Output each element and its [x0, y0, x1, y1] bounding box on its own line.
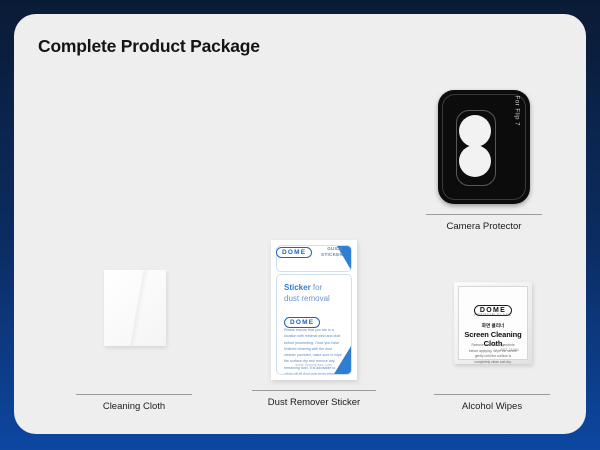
alcohol-wipe-seal: DOME PREMIUM GLASS 화면 클리너 Screen Cleanin… — [458, 286, 528, 360]
product-camera-protector[interactable]: For Flip 7 Camera Protector — [426, 90, 542, 246]
alcohol-wipe-title-kr: 화면 클리너 — [459, 323, 527, 329]
dome-logo: DOME — [276, 247, 312, 258]
product-cleaning-cloth[interactable]: Cleaning Cloth — [76, 270, 192, 422]
cleaning-cloth-fold — [104, 270, 166, 346]
product-alcohol-wipes[interactable]: DOME PREMIUM GLASS 화면 클리너 Screen Cleanin… — [434, 282, 550, 422]
page-title: Complete Product Package — [38, 36, 260, 57]
screenshot-stage: Complete Product Package For Flip 7 Came… — [0, 0, 600, 450]
label-divider — [426, 214, 542, 215]
alcohol-wipe-code: ART 01084 — [500, 348, 519, 352]
heading-light: for — [313, 283, 322, 292]
lens-hole-bottom — [459, 145, 491, 177]
alcohol-wipe-brand-sub: PREMIUM GLASS — [459, 313, 527, 317]
alcohol-wipe-description: Remove dust and fingerprints before appl… — [467, 343, 519, 365]
label-divider — [434, 394, 550, 395]
item-label-dust-remover-sticker: Dust Remover Sticker — [252, 397, 376, 408]
product-dust-remover-sticker[interactable]: DOME GUIDE STICKER Sticker for dust remo… — [252, 240, 376, 422]
guide-sticker-tag: GUIDE STICKER — [321, 246, 343, 258]
item-label-cleaning-cloth: Cleaning Cloth — [76, 401, 192, 412]
label-divider — [76, 394, 192, 395]
camera-protector-model-text: For Flip 7 — [513, 96, 519, 126]
product-package-card: Complete Product Package For Flip 7 Came… — [14, 14, 586, 434]
dust-sticker-heading: Sticker for dust removal — [284, 283, 330, 305]
item-label-camera-protector: Camera Protector — [426, 221, 542, 232]
cleaning-cloth-sheet — [104, 270, 166, 346]
dust-sticker-main-panel: Sticker for dust removal DOME Please ens… — [276, 274, 352, 375]
heading-strong: Sticker — [284, 283, 311, 292]
camera-protector-body: For Flip 7 — [438, 90, 530, 204]
camera-lens-cutout — [456, 110, 496, 186]
dust-sticker-sachet: DOME GUIDE STICKER Sticker for dust remo… — [271, 240, 357, 380]
lens-hole-top — [459, 115, 491, 147]
dust-sticker-top-row: DOME GUIDE STICKER — [276, 246, 352, 258]
item-label-alcohol-wipes: Alcohol Wipes — [434, 401, 550, 412]
alcohol-wipe-packet: DOME PREMIUM GLASS 화면 클리너 Screen Cleanin… — [454, 282, 532, 364]
label-divider — [252, 390, 376, 391]
guide-tag-line2: STICKER — [321, 252, 343, 257]
swoosh-icon — [334, 346, 351, 374]
heading-line2: dust removal — [284, 294, 330, 303]
guide-tag-line1: GUIDE — [327, 246, 343, 251]
